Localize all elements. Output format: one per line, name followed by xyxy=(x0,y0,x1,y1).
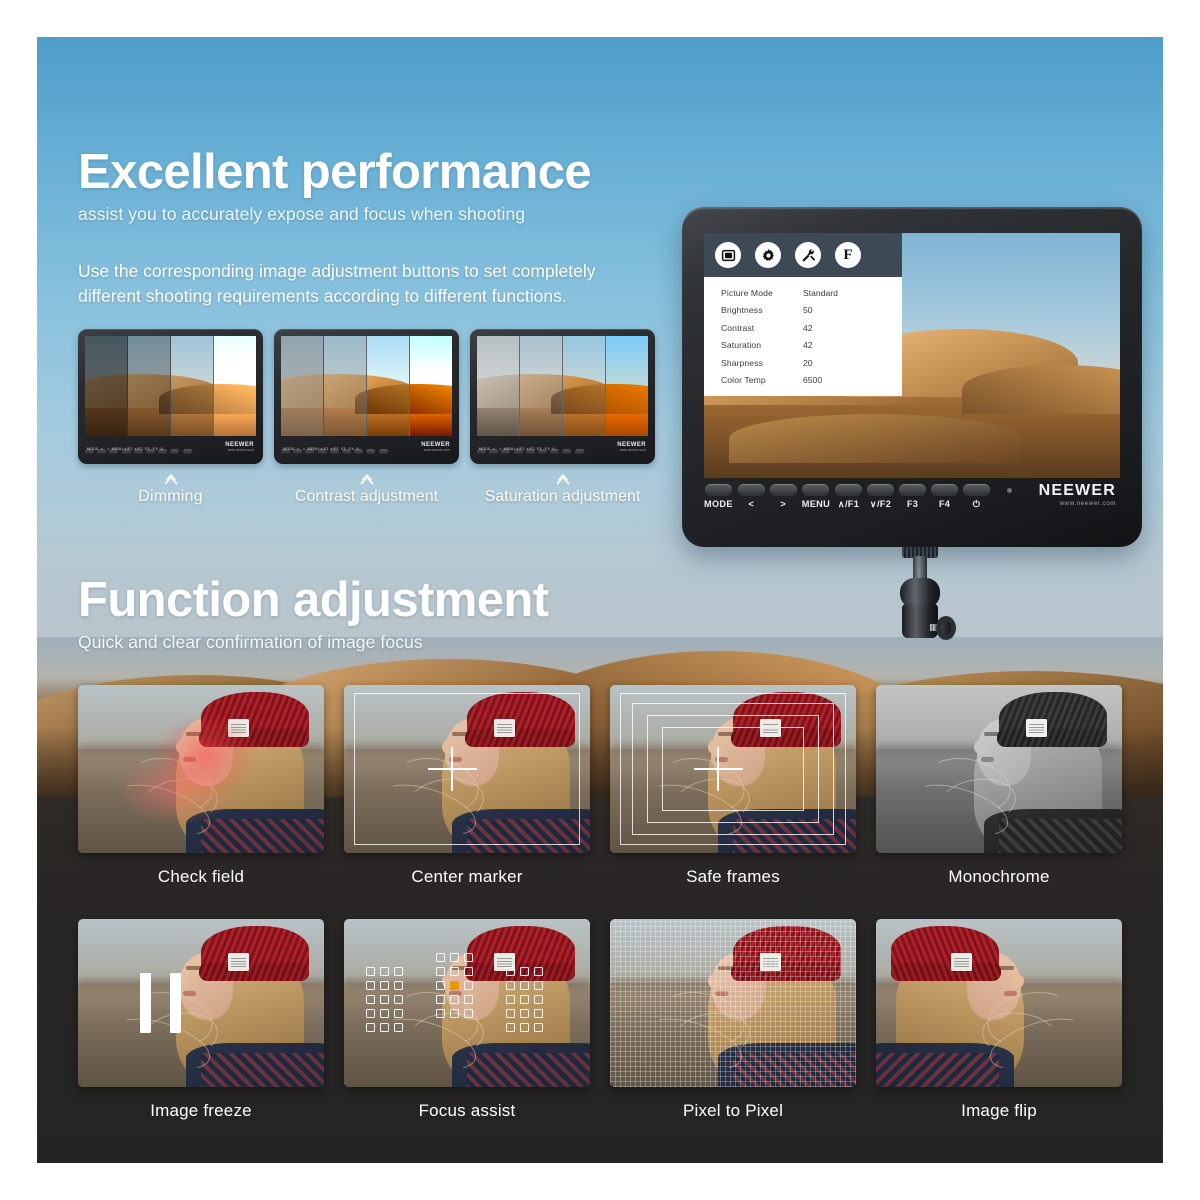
osd-label: Color Temp xyxy=(721,375,803,385)
feature-image xyxy=(344,685,590,853)
monitor-screen: F Picture ModeStandard Brightness50 Cont… xyxy=(704,233,1120,478)
function-subtitle: Quick and clear confirmation of image fo… xyxy=(78,632,548,653)
osd-menu: F Picture ModeStandard Brightness50 Cont… xyxy=(704,233,902,396)
left-button[interactable]: < xyxy=(738,484,765,509)
feature-image xyxy=(78,919,324,1087)
feature-caption: Check field xyxy=(78,867,324,887)
osd-value[interactable]: 42 xyxy=(803,323,813,333)
f4-button[interactable]: F4 xyxy=(931,484,958,509)
power-led xyxy=(1007,488,1012,493)
small-monitor-brand: NEEWERwww.neewer.com xyxy=(617,442,646,452)
gear-icon[interactable] xyxy=(755,242,781,268)
feature-tile-check-field[interactable]: Check field xyxy=(78,685,324,887)
tripod-lock-knob[interactable] xyxy=(936,616,956,640)
tools-icon[interactable] xyxy=(795,242,821,268)
monitor-body: F Picture ModeStandard Brightness50 Cont… xyxy=(682,207,1142,547)
down-f2-button[interactable]: ∨/F2 xyxy=(867,484,894,510)
adjustment-monitor-dimming: MODE < > MENU ∧/F1 ∨/F2 F3 F4 ⏻ NEEWERww… xyxy=(78,329,263,506)
osd-value[interactable]: 42 xyxy=(803,340,813,350)
main-field-monitor: F Picture ModeStandard Brightness50 Cont… xyxy=(682,207,1142,547)
feature-caption: Focus assist xyxy=(344,1101,590,1121)
monitor-brand-logo: NEEWER www.neewer.com xyxy=(1039,482,1116,507)
monitor-button-row: MODE < > MENU ∧/F1 ∨/F2 F3 F4 ⏻ NEEWER w… xyxy=(704,478,1120,520)
osd-label: Saturation xyxy=(721,340,803,350)
function-heading-block: Function adjustment Quick and clear conf… xyxy=(78,575,548,653)
feature-image xyxy=(78,685,324,853)
letter-f-icon[interactable]: F xyxy=(835,242,861,268)
up-f1-button[interactable]: ∧/F1 xyxy=(835,484,862,510)
grayscale-overlay xyxy=(876,685,1122,853)
power-button[interactable]: ⏻ xyxy=(963,484,990,510)
osd-tab-bar: F xyxy=(704,233,902,277)
brand-website: www.neewer.com xyxy=(1039,500,1116,507)
feature-caption: Center marker xyxy=(344,867,590,887)
adjustment-monitors-row: MODE < > MENU ∧/F1 ∨/F2 F3 F4 ⏻ NEEWERww… xyxy=(78,329,688,549)
small-monitor-brand: NEEWERwww.neewer.com xyxy=(421,442,450,452)
small-monitor-screen xyxy=(281,336,452,436)
feature-row-2: Image freeze xyxy=(78,919,1124,1135)
small-monitor-body: MODE < > MENU ∧/F1 ∨/F2 F3 F4 ⏻ NEEWERww… xyxy=(470,329,655,464)
feature-caption: Monochrome xyxy=(876,867,1122,887)
small-monitor-button-row: MODE < > MENU ∧/F1 ∨/F2 F3 F4 ⏻ NEEWERww… xyxy=(85,436,256,463)
hero-subtitle: assist you to accurately expose and focu… xyxy=(78,204,591,225)
small-monitor-button-row: MODE < > MENU ∧/F1 ∨/F2 F3 F4 ⏻ NEEWERww… xyxy=(477,436,648,463)
osd-value[interactable]: 20 xyxy=(803,358,813,368)
feature-image xyxy=(344,919,590,1087)
osd-value[interactable]: Standard xyxy=(803,288,838,298)
mode-button[interactable]: MODE xyxy=(704,484,733,509)
small-monitor-screen xyxy=(477,336,648,436)
adjustment-caption: Saturation adjustment xyxy=(470,488,655,506)
tripod-ball-head-mount xyxy=(880,542,960,677)
feature-tile-monochrome[interactable]: Monochrome xyxy=(876,685,1122,887)
osd-value[interactable]: 6500 xyxy=(803,375,822,385)
osd-row: Saturation42 xyxy=(704,337,902,355)
osd-settings-list: Picture ModeStandard Brightness50 Contra… xyxy=(704,277,902,396)
feature-tile-image-freeze[interactable]: Image freeze xyxy=(78,919,324,1121)
adjustment-caption: Dimming xyxy=(78,488,263,506)
small-monitor-body: MODE < > MENU ∧/F1 ∨/F2 F3 F4 ⏻ NEEWERww… xyxy=(274,329,459,464)
osd-row: Picture ModeStandard xyxy=(704,284,902,302)
feature-image xyxy=(876,919,1122,1087)
osd-label: Contrast xyxy=(721,323,803,333)
menu-button[interactable]: MENU xyxy=(802,484,830,509)
feature-tile-safe-frames[interactable]: Safe frames xyxy=(610,685,856,887)
feature-caption: Image flip xyxy=(876,1101,1122,1121)
f3-button[interactable]: F3 xyxy=(899,484,926,509)
feature-tile-center-marker[interactable]: Center marker xyxy=(344,685,590,887)
osd-label: Picture Mode xyxy=(721,288,803,298)
adjustment-caption: Contrast adjustment xyxy=(274,488,459,506)
feature-tile-focus-assist[interactable]: Focus assist xyxy=(344,919,590,1121)
feature-image xyxy=(610,919,856,1087)
chevron-up-icon xyxy=(555,473,571,486)
square-picture-icon[interactable] xyxy=(715,242,741,268)
product-infographic-page: Excellent performance assist you to accu… xyxy=(37,37,1163,1163)
feature-image xyxy=(876,685,1122,853)
small-monitor-screen xyxy=(85,336,256,436)
adjustment-monitor-saturation: MODE < > MENU ∧/F1 ∨/F2 F3 F4 ⏻ NEEWERww… xyxy=(470,329,655,506)
osd-label: Brightness xyxy=(721,305,803,315)
chevron-up-icon xyxy=(359,473,375,486)
feature-image xyxy=(610,685,856,853)
osd-row: Sharpness20 xyxy=(704,354,902,372)
osd-row: Contrast42 xyxy=(704,319,902,337)
feature-tile-image-flip[interactable]: Image flip xyxy=(876,919,1122,1121)
feature-row-1: Check field Center marker xyxy=(78,685,1124,901)
mirrored-overlay xyxy=(876,919,1122,1087)
hero-title: Excellent performance xyxy=(78,147,591,198)
osd-row: Color Temp6500 xyxy=(704,372,902,390)
small-monitor-body: MODE < > MENU ∧/F1 ∨/F2 F3 F4 ⏻ NEEWERww… xyxy=(78,329,263,464)
small-monitor-button-row: MODE < > MENU ∧/F1 ∨/F2 F3 F4 ⏻ NEEWERww… xyxy=(281,436,452,463)
adjustment-monitor-contrast: MODE < > MENU ∧/F1 ∨/F2 F3 F4 ⏻ NEEWERww… xyxy=(274,329,459,506)
osd-row: Brightness50 xyxy=(704,302,902,320)
right-button[interactable]: > xyxy=(770,484,797,509)
function-title: Function adjustment xyxy=(78,575,548,626)
small-monitor-brand: NEEWERwww.neewer.com xyxy=(225,442,254,452)
feature-grid: Check field Center marker xyxy=(78,685,1124,1135)
brand-name: NEEWER xyxy=(1039,482,1116,500)
chevron-up-icon xyxy=(163,473,179,486)
feature-caption: Pixel to Pixel xyxy=(610,1101,856,1121)
feature-caption: Safe frames xyxy=(610,867,856,887)
hero-heading-block: Excellent performance assist you to accu… xyxy=(78,147,591,225)
feature-tile-pixel-to-pixel[interactable]: Pixel to Pixel xyxy=(610,919,856,1121)
intro-paragraph: Use the corresponding image adjustment b… xyxy=(78,259,658,310)
osd-value[interactable]: 50 xyxy=(803,305,813,315)
osd-label: Sharpness xyxy=(721,358,803,368)
feature-caption: Image freeze xyxy=(78,1101,324,1121)
